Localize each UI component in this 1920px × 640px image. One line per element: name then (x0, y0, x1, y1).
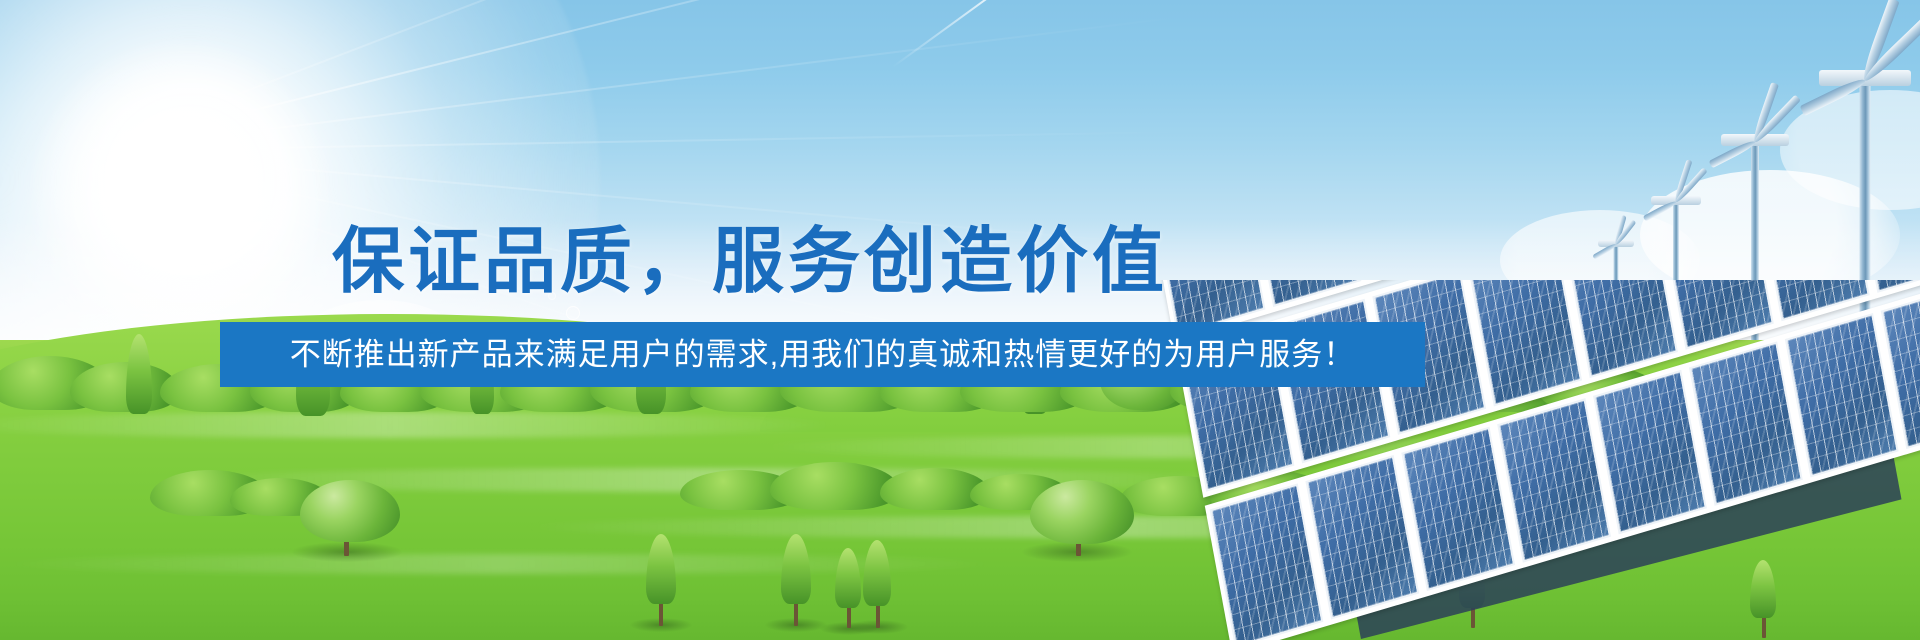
solar-panel (1210, 483, 1324, 640)
tree-round (300, 480, 400, 542)
solar-panel (1593, 370, 1707, 535)
airplane-contrail (892, 0, 998, 68)
solar-panel (1564, 280, 1678, 378)
solar-panel (1689, 341, 1803, 506)
solar-panel (1497, 398, 1611, 563)
tree-round (1030, 480, 1134, 544)
solar-panel (1401, 427, 1515, 592)
solar-panel (1785, 313, 1899, 478)
subtitle-text: 不断推出新产品来满足用户的需求,用我们的真诚和热情更好的为用户服务！ (290, 339, 1356, 370)
subtitle-bar: 不断推出新产品来满足用户的需求,用我们的真诚和热情更好的为用户服务！ (220, 322, 1425, 387)
solar-panel (1660, 280, 1774, 350)
solar-panel (1468, 280, 1582, 407)
hero-banner: 保证品质，服务创造价值 不断推出新产品来满足用户的需求,用我们的真诚和热情更好的… (0, 0, 1920, 640)
page-title: 保证品质，服务创造价值 (0, 226, 1500, 298)
solar-panel (1305, 455, 1419, 620)
mow-stripe (0, 412, 840, 438)
